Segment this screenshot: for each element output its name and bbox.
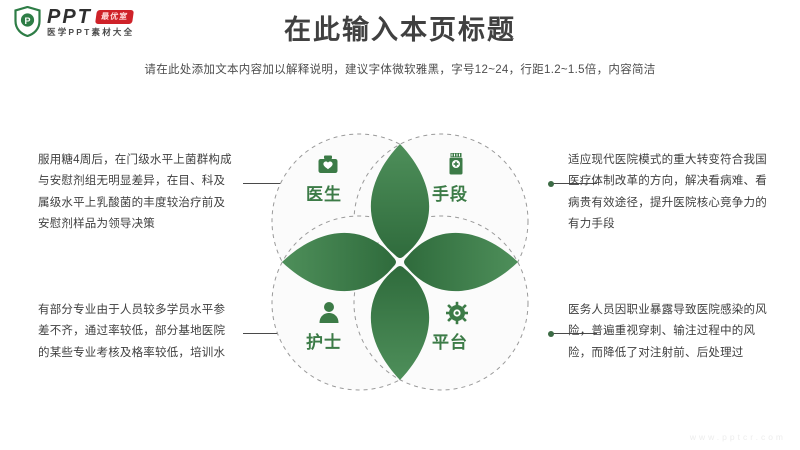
diagram-svg xyxy=(262,124,538,400)
petal-label-nurse: 护士 xyxy=(306,334,342,351)
description-bottom-left: 有部分专业由于人员较多学员水平参差不齐，通过率较低，部分基地医院的某些专业考核及… xyxy=(38,300,234,364)
description-top-right: 适应现代医院模式的重大转变符合我国医疗体制改革的方向，解决看病难、看病贵有效途径… xyxy=(568,150,768,235)
petal-label-platform: 平台 xyxy=(432,334,468,351)
petal-label-doctor: 医生 xyxy=(306,186,342,203)
gear-icon xyxy=(446,301,468,325)
page-title: 在此输入本页标题 xyxy=(0,14,800,46)
person-icon xyxy=(318,300,340,324)
description-top-left: 服用糖4周后，在门级水平上菌群构成与安慰剂组无明显差异，在目、科及属级水平上乳酸… xyxy=(38,150,234,235)
medicine-bottle-icon xyxy=(445,152,467,176)
medical-bag-icon xyxy=(317,154,339,178)
site-watermark: www.pptcr.com xyxy=(690,432,786,442)
page-subtitle: 请在此处添加文本内容加以解释说明，建议字体微软雅黑，字号12~24，行距1.2~… xyxy=(0,62,800,78)
four-petal-venn-diagram: 医生 手段 护士 xyxy=(262,124,538,400)
description-bottom-right: 医务人员因职业暴露导致医院感染的风险，普遍重视穿刺、输注过程中的风险，而降低了对… xyxy=(568,300,768,364)
connector-dot-icon xyxy=(548,331,554,337)
petal-label-means: 手段 xyxy=(432,186,468,203)
connector-dot-icon xyxy=(548,181,554,187)
